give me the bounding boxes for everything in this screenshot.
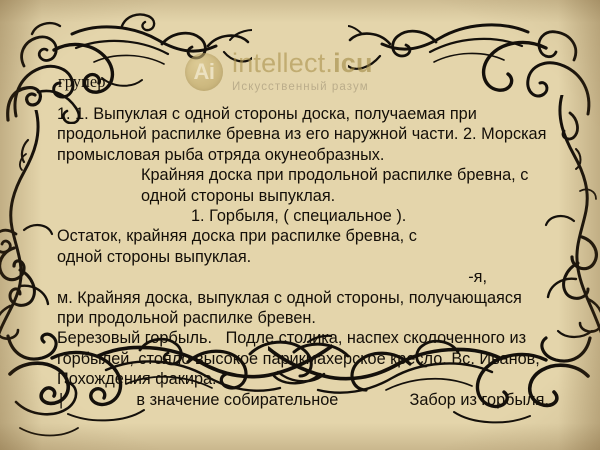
vine-ornament-left: [0, 110, 60, 340]
definition-sense-2: Крайняя доска при продольной распилке бр…: [57, 165, 549, 206]
dictionary-entry-body: 1. 1. Выпуклая с одной стороны доска, по…: [57, 104, 549, 410]
definition-sense-3-head: 1. Горбыля, ( специальное ).: [57, 206, 549, 226]
watermark-subtitle: Искусственный разум: [232, 82, 373, 94]
inflection-row: -я,: [57, 267, 549, 287]
definition-sense-3-row: Остаток, крайняя доска при распилке брев…: [57, 226, 549, 267]
watermark-intellect-icu: Ai intellect.icu Искусственный разум: [185, 50, 373, 94]
ai-logo-text: Ai: [194, 61, 215, 83]
parchment-page: Ai intellect.icu Искусственный разум гру…: [0, 0, 600, 450]
inflection-ending: -я,: [468, 267, 549, 287]
watermark-title-plain: intellect.: [232, 48, 333, 78]
page-title: групер: [58, 72, 105, 92]
collective-sense-note: в значение собирательное: [136, 390, 338, 410]
pipe-separator-icon: |: [57, 390, 65, 410]
collective-sense-example: Забор из горбыля.: [410, 390, 550, 410]
definition-sense-4: м. Крайняя доска, выпуклая с одной сторо…: [57, 288, 549, 329]
definition-sense-3-body: Остаток, крайняя доска при распилке брев…: [57, 226, 457, 267]
usage-examples: Березовый горбыль. Подле столика, наспех…: [57, 328, 549, 389]
example-birch: Березовый горбыль.: [57, 329, 212, 347]
watermark-title: intellect.icu: [232, 50, 373, 77]
watermark-text-block: intellect.icu Искусственный разум: [232, 50, 373, 94]
vine-ornament-right: [540, 95, 600, 345]
watermark-title-bold: icu: [333, 48, 373, 78]
ai-logo-icon: Ai: [185, 53, 223, 91]
definition-sense-1: 1. 1. Выпуклая с одной стороны доска, по…: [57, 104, 549, 165]
collective-sense-row: | в значение собирательное Забор из горб…: [57, 390, 549, 410]
